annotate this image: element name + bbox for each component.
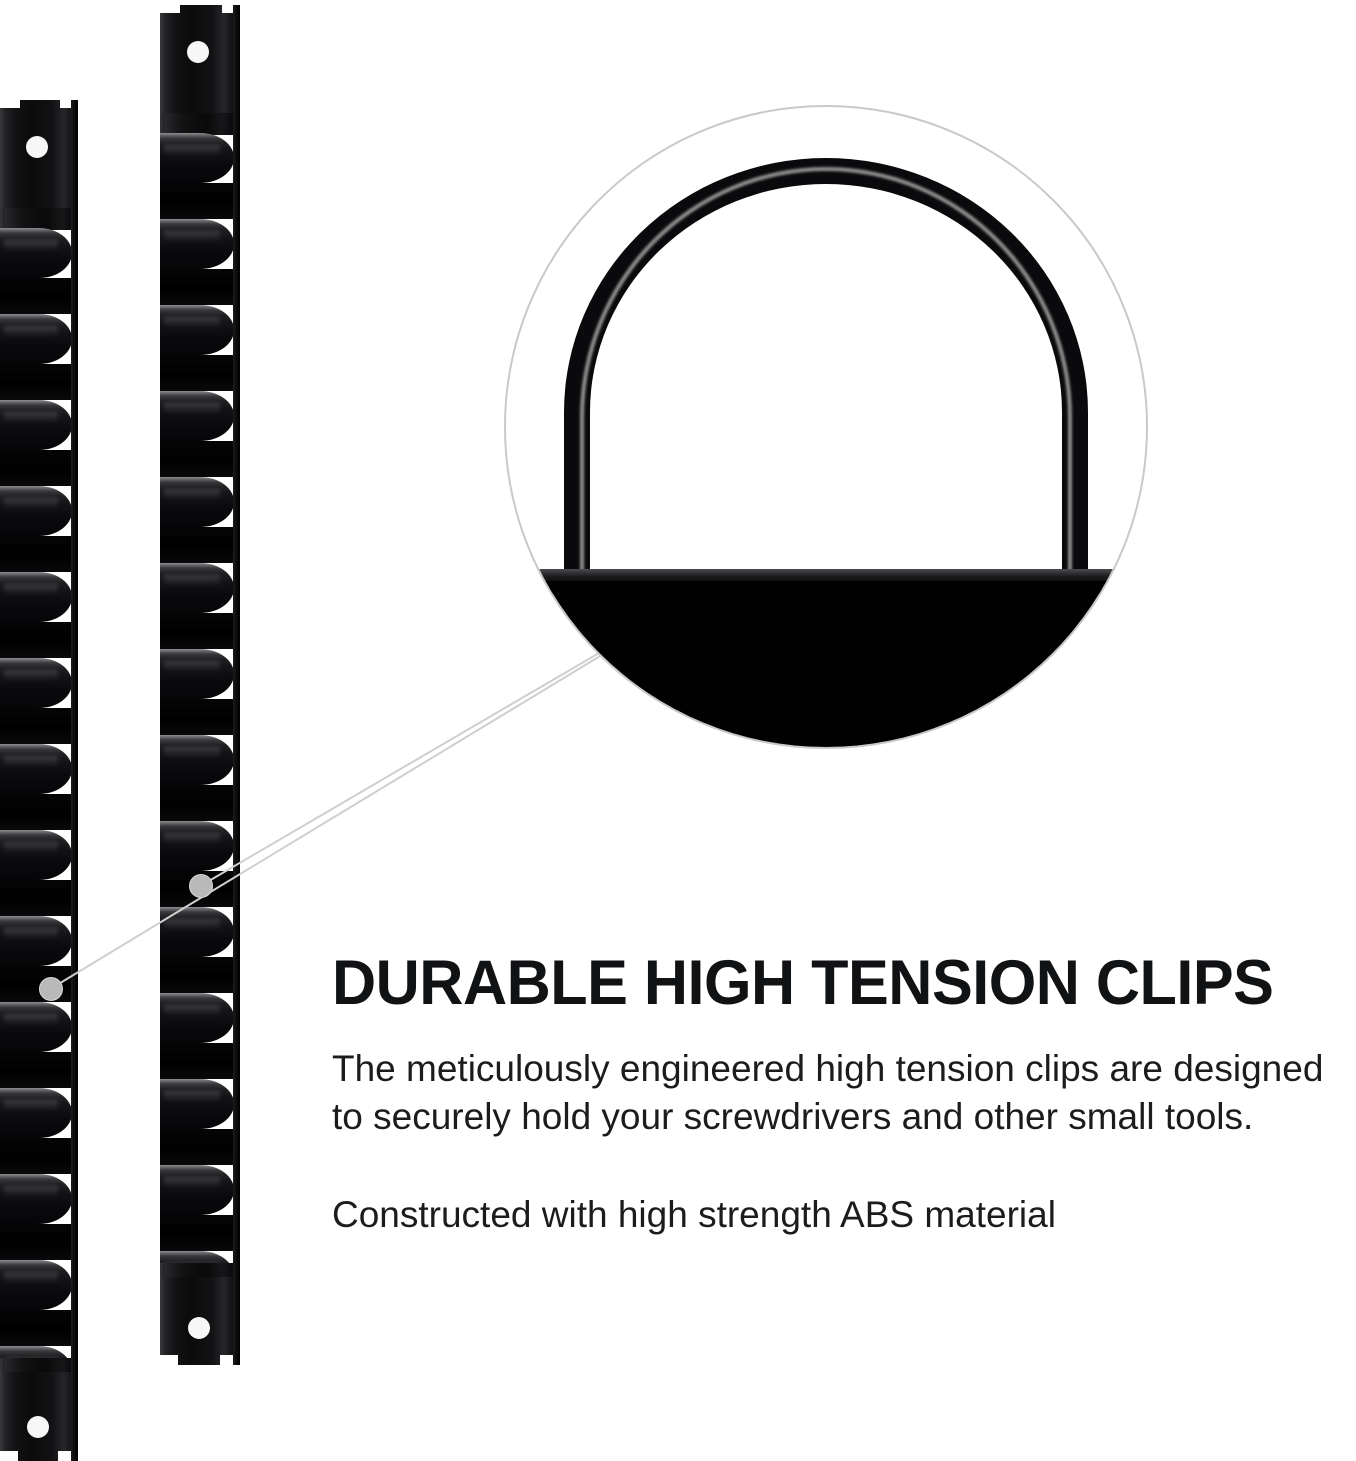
clip-segment [0,314,78,400]
clip-segment [0,486,78,572]
clip-segment [0,228,78,314]
clip-segment [160,735,240,821]
clip-segment [160,907,240,993]
clip-segment [0,1088,78,1174]
clip-segment [0,830,78,916]
callout-dot-upper [189,874,213,898]
clip-segment [160,649,240,735]
clip-stack-back [160,133,240,1285]
rail-edge [71,100,78,1461]
clip-stack-front [0,228,78,1380]
clip-segment [0,400,78,486]
tab-notch-left [0,100,20,108]
tab-notch-bottom-left [160,1355,178,1365]
clip-segment [0,572,78,658]
clip-segment [160,1079,240,1165]
rail-bottom-mount-tab [0,1372,78,1461]
screw-hole-bottom [27,1416,49,1438]
rail-bottom-mount-tab [160,1277,240,1365]
clip-segment [0,1260,78,1346]
clip-segment [0,1174,78,1260]
feature-text-block: DURABLE HIGH TENSION CLIPS The meticulou… [332,952,1342,1239]
rail-neck-top [0,208,78,230]
rail-neck-top [160,113,240,135]
tab-notch-left [160,5,180,13]
product-rail-back [160,5,240,1365]
feature-description-primary: The meticulously engineered high tension… [332,1015,1342,1141]
rail-top-mount-tab [160,5,240,119]
rail-top-mount-tab [0,100,78,214]
clip-segment [160,477,240,563]
clip-segment [160,391,240,477]
tab-notch-bottom-left [0,1451,18,1461]
screw-hole-top [187,41,209,63]
clip-segment [160,305,240,391]
clip-segment [160,133,240,219]
product-feature-image: DURABLE HIGH TENSION CLIPS The meticulou… [0,0,1356,1461]
page-title: DURABLE HIGH TENSION CLIPS [332,952,1312,1015]
screw-hole-top [26,136,48,158]
clip-segment [160,1165,240,1251]
clip-segment [0,658,78,744]
rail-edge [233,5,240,1365]
clip-segment [0,744,78,830]
clip-segment [160,563,240,649]
feature-description-secondary: Constructed with high strength ABS mater… [332,1141,1342,1239]
magnified-clip-detail [504,105,1148,749]
product-rail-front [0,100,78,1461]
callout-dot-lower [39,977,63,1001]
screw-hole-bottom [188,1317,210,1339]
rail-slab [504,581,1148,749]
clip-segment [0,1002,78,1088]
clip-segment [160,219,240,305]
clip-segment [160,993,240,1079]
